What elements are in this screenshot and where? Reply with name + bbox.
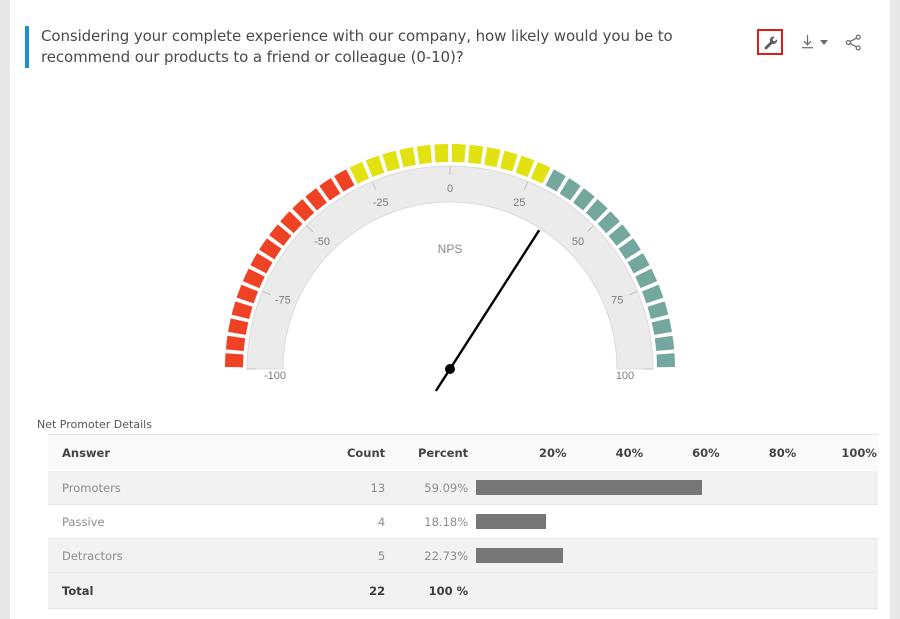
- scale-tick-label: 60%: [692, 446, 720, 460]
- table-row[interactable]: Passive418.18%: [48, 505, 878, 539]
- detractor-band-segment: [334, 169, 354, 191]
- needle-hub: [445, 364, 455, 374]
- promoter-band-segment: [647, 301, 668, 319]
- gauge-tick-label: -100: [264, 370, 286, 382]
- gauge-tick-label: -50: [314, 236, 330, 248]
- promoter-band-segment: [655, 336, 674, 351]
- detractor-band-segment: [226, 336, 245, 351]
- cell-percent: 22.73%: [395, 539, 476, 573]
- details-caption: Net Promoter Details: [37, 418, 152, 431]
- download-button[interactable]: [800, 34, 828, 50]
- column-header-scale: 20%40%60%80%100%: [476, 435, 878, 471]
- gauge-tick-label: 75: [611, 295, 623, 307]
- passive-band-segment: [350, 162, 370, 184]
- passive-band-segment: [468, 145, 483, 164]
- cell-percent: 18.18%: [395, 505, 476, 539]
- scale-tick-label: 20%: [539, 446, 567, 460]
- column-header-percent: Percent: [395, 435, 476, 471]
- promoter-band-segment: [642, 285, 663, 304]
- table-row[interactable]: Detractors522.73%: [48, 539, 878, 573]
- share-button[interactable]: [845, 34, 862, 51]
- card-header: Considering your complete experience wit…: [10, 0, 890, 90]
- column-header-answer: Answer: [48, 435, 306, 471]
- detractor-band-segment: [228, 318, 248, 334]
- gauge-center-label: NPS: [438, 242, 463, 256]
- promoter-band-segment: [635, 269, 657, 289]
- cell-answer: Promoters: [48, 471, 306, 505]
- passive-band-segment: [452, 144, 466, 162]
- promoter-band-segment: [627, 253, 649, 273]
- table-row[interactable]: Promoters1359.09%: [48, 471, 878, 505]
- passive-band-segment: [531, 162, 551, 184]
- passive-band-segment: [500, 151, 518, 172]
- settings-button[interactable]: [757, 29, 783, 55]
- gauge-tick-label: 0: [447, 183, 453, 195]
- percent-bar: [476, 480, 702, 495]
- detractor-band-segment: [225, 353, 243, 367]
- gauge-tick-label: 25: [513, 197, 525, 209]
- cell-bar: [476, 471, 878, 505]
- header-actions: [757, 29, 862, 55]
- download-icon: [800, 34, 815, 50]
- cell-bar: [476, 505, 878, 539]
- detractor-band-segment: [237, 285, 258, 304]
- promoter-band-segment: [652, 318, 672, 334]
- nps-gauge: -100-75-50-250255075100 NPS Net Promoter…: [10, 88, 890, 408]
- passive-band-segment: [417, 145, 432, 164]
- gauge-svg: -100-75-50-250255075100 NPS: [10, 88, 890, 408]
- cell-answer: Passive: [48, 505, 306, 539]
- wrench-icon: [763, 35, 778, 50]
- gauge-tick-label: 100: [616, 370, 634, 382]
- passive-band-segment: [399, 147, 415, 167]
- scale-tick-label: 80%: [769, 446, 797, 460]
- table-total-row: Total22100 %: [48, 573, 878, 609]
- detractor-band-segment: [243, 269, 265, 289]
- promoter-band-segment: [546, 169, 566, 191]
- passive-band-segment: [516, 156, 535, 177]
- cell-total-label: Total: [48, 573, 306, 609]
- details-table-wrap: Answer Count Percent 20%40%60%80%100% Pr…: [48, 434, 878, 609]
- question-title-wrap: Considering your complete experience wit…: [25, 26, 685, 68]
- gauge-tick-label: -25: [373, 197, 389, 209]
- passive-band-segment: [366, 156, 385, 177]
- title-accent-bar: [25, 26, 29, 68]
- detractor-band-segment: [250, 253, 272, 273]
- details-table: Answer Count Percent 20%40%60%80%100% Pr…: [48, 435, 878, 609]
- scale-tick-label: 100%: [841, 446, 877, 460]
- chevron-down-icon: [820, 40, 828, 45]
- passive-band-segment: [434, 144, 448, 162]
- promoter-band-segment: [656, 353, 674, 367]
- cell-total-bar: [476, 573, 878, 609]
- gauge-tick-label: -75: [275, 295, 291, 307]
- cell-count: 4: [306, 505, 395, 539]
- scale-tick-label: 40%: [616, 446, 644, 460]
- cell-count: 5: [306, 539, 395, 573]
- passive-band-segment: [484, 147, 500, 167]
- percent-bar: [476, 548, 563, 563]
- passive-band-segment: [382, 151, 400, 172]
- report-card: Considering your complete experience wit…: [10, 0, 890, 619]
- cell-count: 13: [306, 471, 395, 505]
- cell-answer: Detractors: [48, 539, 306, 573]
- column-header-count: Count: [306, 435, 395, 471]
- cell-total-count: 22: [306, 573, 395, 609]
- percent-bar: [476, 514, 546, 529]
- gauge-tick-label: 50: [572, 236, 584, 248]
- page-title: Considering your complete experience wit…: [41, 26, 685, 68]
- cell-bar: [476, 539, 878, 573]
- detractor-band-segment: [232, 301, 253, 319]
- cell-total-percent: 100 %: [395, 573, 476, 609]
- cell-percent: 59.09%: [395, 471, 476, 505]
- table-header-row: Answer Count Percent 20%40%60%80%100%: [48, 435, 878, 471]
- share-icon: [845, 34, 862, 51]
